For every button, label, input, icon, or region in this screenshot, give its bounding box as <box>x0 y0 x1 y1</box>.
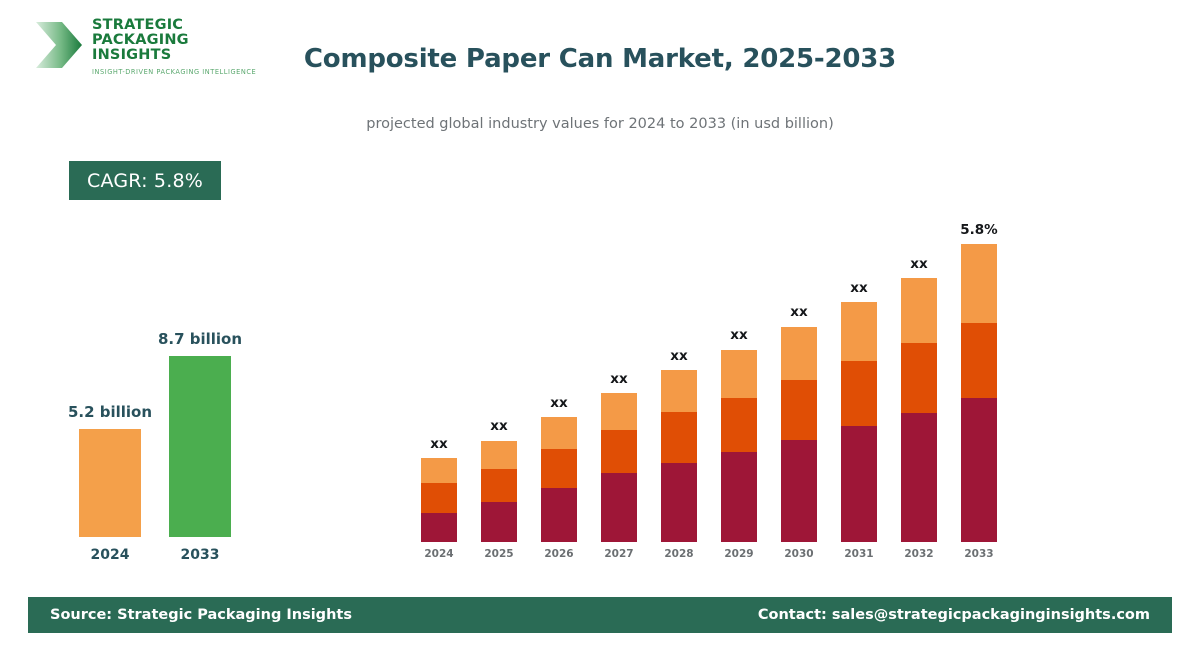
stacked-bar-segment-segment-top <box>481 441 517 469</box>
brand-name-line2: PACKAGING INSIGHTS <box>92 33 272 63</box>
stacked-bar-value-label: xx <box>644 348 714 364</box>
stacked-bar-2028 <box>661 370 697 542</box>
stacked-bar-2025 <box>481 441 517 542</box>
summary-bar-value-label: 5.2 billion <box>40 403 180 421</box>
stacked-bar-2032 <box>901 278 937 542</box>
summary-bar-year-label: 2024 <box>79 547 141 563</box>
stacked-bar-column: xx2032 <box>901 195 937 560</box>
stacked-bar-2033 <box>961 244 997 542</box>
stacked-bar-segment-segment-bottom <box>961 398 997 542</box>
stacked-bar-2031 <box>841 302 877 542</box>
brand-name-line1: STRATEGIC <box>92 18 272 33</box>
stacked-bar-year-label: 2031 <box>841 548 877 560</box>
stacked-bar-segment-segment-top <box>841 302 877 361</box>
stacked-bar-2026 <box>541 417 577 542</box>
stacked-bar-segment-segment-middle <box>721 398 757 452</box>
stacked-bar-column: xx2026 <box>541 195 577 560</box>
stacked-bar-segment-segment-top <box>601 393 637 430</box>
stacked-bar-column: 5.8%2033 <box>961 195 997 560</box>
summary-bar-2024 <box>79 429 141 537</box>
cagr-badge: CAGR: 5.8% <box>69 161 221 200</box>
summary-bar-year-label: 2033 <box>169 547 231 563</box>
stacked-bar-segment-segment-middle <box>541 449 577 488</box>
stacked-bar-value-label: xx <box>464 418 534 434</box>
stacked-bar-year-label: 2026 <box>541 548 577 560</box>
stacked-bar-segment-segment-middle <box>841 361 877 426</box>
stacked-bar-year-label: 2027 <box>601 548 637 560</box>
stacked-bar-segment-segment-top <box>421 458 457 483</box>
footer-bar: Source: Strategic Packaging Insights Con… <box>28 597 1172 633</box>
stacked-bar-column: xx2029 <box>721 195 757 560</box>
stacked-bar-year-label: 2029 <box>721 548 757 560</box>
stacked-bar-segment-segment-middle <box>421 483 457 513</box>
stacked-bar-segment-segment-bottom <box>721 452 757 542</box>
stacked-bar-segment-segment-middle <box>901 343 937 413</box>
stacked-bar-segment-segment-top <box>541 417 577 449</box>
stacked-bar-year-label: 2030 <box>781 548 817 560</box>
stacked-bar-value-label: xx <box>764 304 834 320</box>
stacked-bar-value-label: xx <box>884 256 954 272</box>
summary-bar-column: 8.7 billion2033 <box>169 320 231 565</box>
stacked-bar-segment-segment-top <box>781 327 817 380</box>
stacked-bar-value-label: xx <box>404 436 474 452</box>
stacked-bar-year-label: 2033 <box>961 548 997 560</box>
summary-bar-chart: 5.2 billion20248.7 billion2033 <box>40 320 270 565</box>
stacked-bar-year-label: 2028 <box>661 548 697 560</box>
brand-logo: STRATEGIC PACKAGING INSIGHTS INSIGHT-DRI… <box>32 14 272 76</box>
stacked-bar-segment-segment-middle <box>481 469 517 502</box>
stacked-bar-value-label: xx <box>524 395 594 411</box>
footer-contact-label: Contact: sales@strategicpackaginginsight… <box>758 607 1150 623</box>
chevron-right-logo-icon <box>32 20 84 70</box>
stacked-bar-segment-segment-middle <box>781 380 817 440</box>
cagr-badge-label: CAGR: 5.8% <box>87 170 203 192</box>
stacked-bar-year-label: 2025 <box>481 548 517 560</box>
stacked-bar-column: xx2025 <box>481 195 517 560</box>
stacked-bar-segment-segment-bottom <box>541 488 577 542</box>
stacked-bar-segment-segment-middle <box>601 430 637 473</box>
stacked-bar-column: xx2030 <box>781 195 817 560</box>
footer-source-label: Source: Strategic Packaging Insights <box>50 607 352 623</box>
stacked-bar-segment-segment-top <box>661 370 697 412</box>
stacked-bar-column: xx2031 <box>841 195 877 560</box>
stacked-bar-segment-segment-bottom <box>481 502 517 542</box>
stacked-bar-segment-segment-top <box>901 278 937 343</box>
summary-bar-2033 <box>169 356 231 537</box>
stacked-bar-year-label: 2032 <box>901 548 937 560</box>
segmented-forecast-stacked-bar-chart: xx2024xx2025xx2026xx2027xx2028xx2029xx20… <box>405 195 1015 560</box>
stacked-bar-column: xx2027 <box>601 195 637 560</box>
stacked-bar-year-label: 2024 <box>421 548 457 560</box>
brand-tagline: INSIGHT-DRIVEN PACKAGING INTELLIGENCE <box>92 68 272 76</box>
stacked-bar-2024 <box>421 458 457 542</box>
stacked-bar-column: xx2028 <box>661 195 697 560</box>
stacked-bar-2027 <box>601 393 637 542</box>
page-subtitle: projected global industry values for 202… <box>290 116 910 132</box>
stacked-bar-value-label: xx <box>584 371 654 387</box>
stacked-bar-value-label: 5.8% <box>944 222 1014 238</box>
stacked-bar-segment-segment-bottom <box>421 513 457 542</box>
summary-bar-column: 5.2 billion2024 <box>79 320 141 565</box>
stacked-bar-segment-segment-middle <box>661 412 697 463</box>
stacked-bar-column: xx2024 <box>421 195 457 560</box>
stacked-bar-segment-segment-bottom <box>601 473 637 542</box>
stacked-bar-segment-segment-bottom <box>901 413 937 542</box>
stacked-bar-segment-segment-bottom <box>781 440 817 542</box>
stacked-bar-value-label: xx <box>704 327 774 343</box>
stacked-bar-segment-segment-top <box>721 350 757 398</box>
stacked-bar-2029 <box>721 350 757 542</box>
stacked-bar-2030 <box>781 327 817 542</box>
stacked-bar-segment-segment-middle <box>961 323 997 398</box>
summary-bar-value-label: 8.7 billion <box>130 330 270 348</box>
page-title: Composite Paper Can Market, 2025-2033 <box>300 44 900 74</box>
brand-wordmark: STRATEGIC PACKAGING INSIGHTS INSIGHT-DRI… <box>92 18 272 76</box>
stacked-bar-value-label: xx <box>824 280 894 296</box>
stacked-bar-segment-segment-top <box>961 244 997 323</box>
stacked-bar-segment-segment-bottom <box>841 426 877 542</box>
stacked-bar-segment-segment-bottom <box>661 463 697 542</box>
